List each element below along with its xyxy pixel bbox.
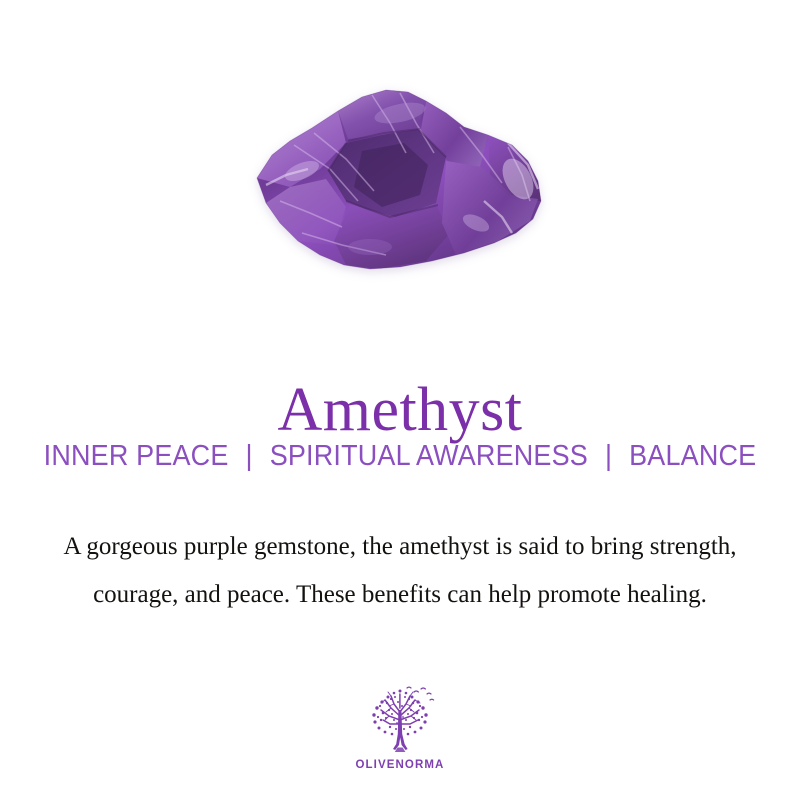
amethyst-crystal-illustration — [250, 83, 550, 288]
keyword-balance: BALANCE — [629, 440, 756, 472]
keyword-separator: | — [596, 440, 622, 473]
keyword-line: INNER PEACE | SPIRITUAL AWARENESS | BALA… — [28, 440, 772, 473]
keyword-spiritual-awareness: SPIRITUAL AWARENESS — [270, 440, 588, 472]
brand-wordmark: OLIVENORMA — [356, 759, 445, 771]
brand-logo: OLIVENORMA — [0, 686, 800, 771]
tree-of-life-icon — [361, 686, 439, 756]
keyword-separator: | — [236, 440, 262, 473]
page-title: Amethyst — [0, 378, 800, 443]
amethyst-crystal-image — [250, 83, 550, 288]
amethyst-product-card: Amethyst INNER PEACE | SPIRITUAL AWARENE… — [0, 0, 800, 800]
keyword-inner-peace: INNER PEACE — [44, 440, 229, 472]
description-text: A gorgeous purple gemstone, the amethyst… — [50, 523, 750, 619]
gemstone-hero — [0, 70, 800, 300]
